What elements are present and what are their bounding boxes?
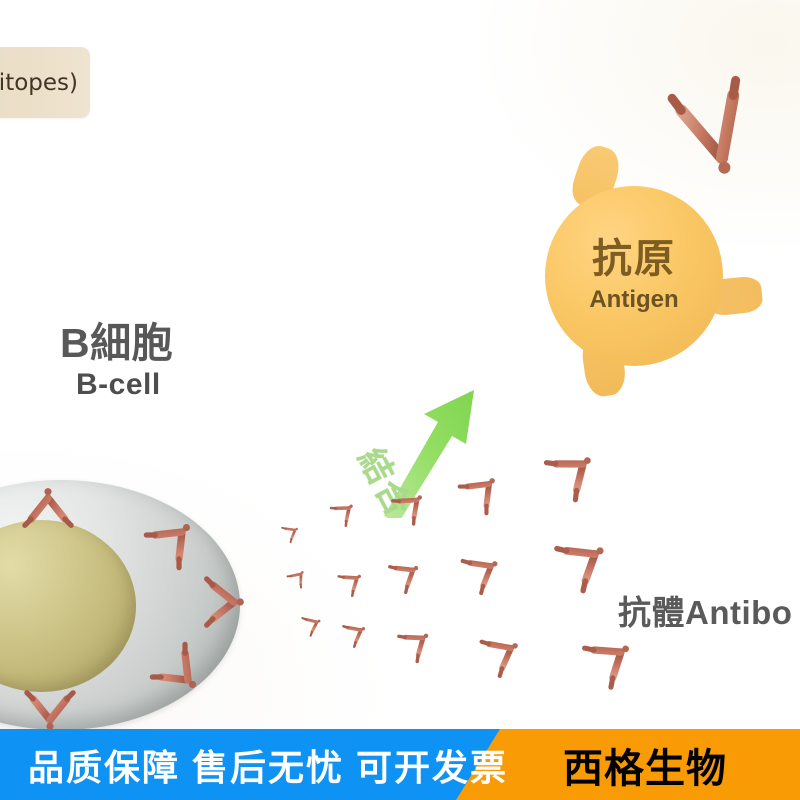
bcell-label-group: B細胞 B-cell (60, 322, 173, 401)
epitope-callout-label: Epitopes) (0, 70, 78, 96)
bcell-graphic (0, 480, 242, 730)
banner-slogan: 品质保障 售后无忧 可开发票 (28, 729, 508, 800)
bottom-banner: 品质保障 售后无忧 可开发票 西格生物 (0, 729, 800, 800)
illustration-canvas: Epitopes) B細胞 B-cell (0, 0, 800, 800)
antibody-label: 抗體Antibo (618, 586, 792, 634)
banner-brand: 西格生物 (563, 729, 727, 800)
antibody-swarm-icon (265, 470, 665, 690)
bcell-surface-receptors-icon (0, 480, 242, 730)
antigen-body (545, 186, 723, 366)
bcell-label-cn: B細胞 (60, 320, 173, 366)
bound-antibody-icon (660, 50, 800, 210)
epitope-callout-box: Epitopes) (0, 47, 90, 118)
bcell-label-en: B-cell (76, 369, 173, 401)
